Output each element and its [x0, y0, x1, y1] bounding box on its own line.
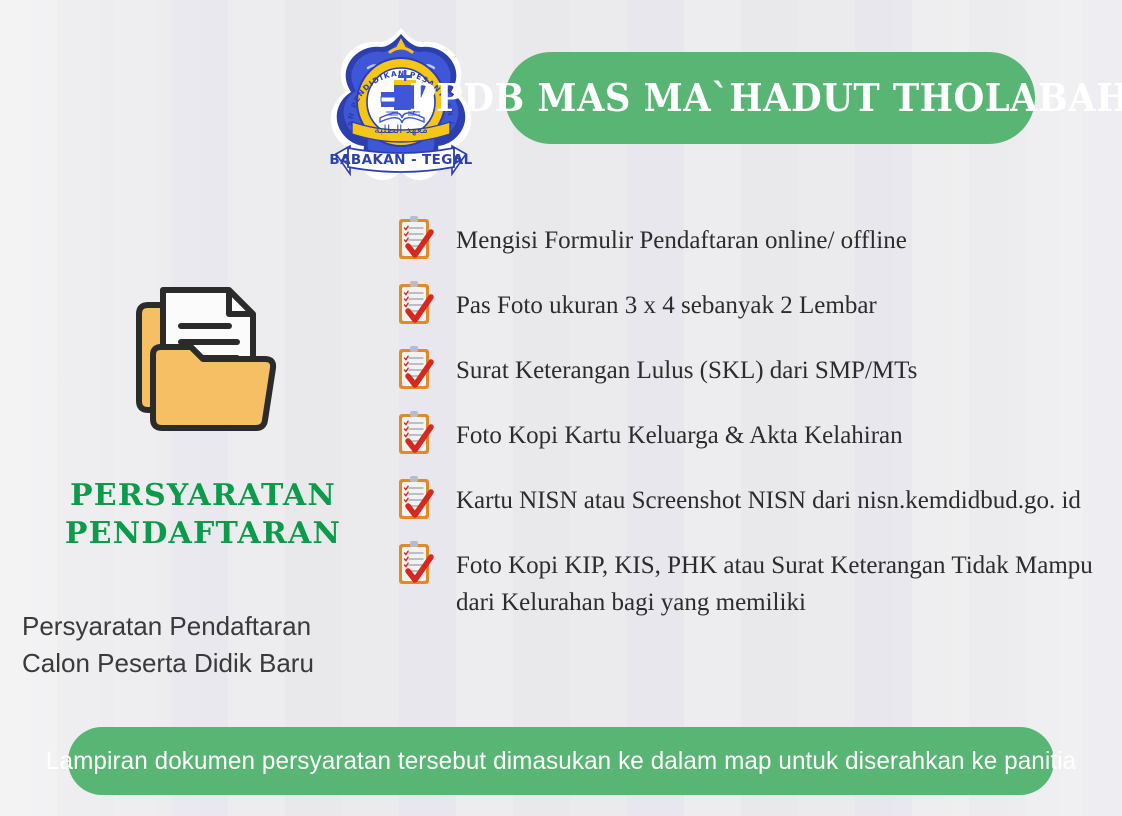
requirement-text: Foto Kopi KIP, KIS, PHK atau Surat Keter…	[456, 539, 1108, 621]
clipboard-check-icon	[396, 540, 438, 588]
list-item: Foto Kopi KIP, KIS, PHK atau Surat Keter…	[396, 539, 1108, 621]
requirement-text: Surat Keterangan Lulus (SKL) dari SMP/MT…	[456, 344, 917, 389]
poster-canvas: YAYASAN PENDIDIKAN PESANTREN ( YPP )	[0, 0, 1122, 816]
left-heading-line2: PENDAFTARAN	[18, 515, 388, 553]
page-title: PPDB MAS MA`HADUT THOLABAH	[410, 79, 1122, 117]
list-item: Mengisi Formulir Pendaftaran online/ off…	[396, 214, 1108, 263]
logo-arabic-text: معهد الطلبة	[374, 123, 428, 136]
left-subtitle-line2: Calon Peserta Didik Baru	[22, 645, 422, 682]
clipboard-check-icon	[396, 410, 438, 458]
footer-note-text: Lampiran dokumen persyaratan tersebut di…	[46, 747, 1076, 776]
clipboard-check-icon	[396, 215, 438, 263]
list-item: Foto Kopi Kartu Keluarga & Akta Kelahira…	[396, 409, 1108, 458]
list-item: Pas Foto ukuran 3 x 4 sebanyak 2 Lembar	[396, 279, 1108, 328]
footer-note-banner: Lampiran dokumen persyaratan tersebut di…	[68, 727, 1054, 795]
requirements-list: Mengisi Formulir Pendaftaran online/ off…	[396, 214, 1108, 621]
requirement-text: Foto Kopi Kartu Keluarga & Akta Kelahira…	[456, 409, 903, 454]
logo-ribbon-text: BABAKAN - TEGAL	[329, 152, 472, 168]
folder-document-icon	[125, 276, 287, 441]
list-item: Kartu NISN atau Screenshot NISN dari nis…	[396, 474, 1108, 523]
left-subtitle: Persyaratan Pendaftaran Calon Peserta Di…	[22, 608, 422, 682]
requirement-text: Pas Foto ukuran 3 x 4 sebanyak 2 Lembar	[456, 279, 877, 324]
requirement-text: Mengisi Formulir Pendaftaran online/ off…	[456, 214, 907, 259]
clipboard-check-icon	[396, 280, 438, 328]
left-heading: PERSYARATAN PENDAFTARAN	[18, 477, 388, 554]
clipboard-check-icon	[396, 345, 438, 393]
left-heading-line1: PERSYARATAN	[70, 478, 336, 513]
list-item: Surat Keterangan Lulus (SKL) dari SMP/MT…	[396, 344, 1108, 393]
left-subtitle-line1: Persyaratan Pendaftaran	[22, 611, 311, 641]
clipboard-check-icon	[396, 475, 438, 523]
requirement-text: Kartu NISN atau Screenshot NISN dari nis…	[456, 474, 1081, 519]
title-banner: PPDB MAS MA`HADUT THOLABAH	[505, 52, 1035, 144]
